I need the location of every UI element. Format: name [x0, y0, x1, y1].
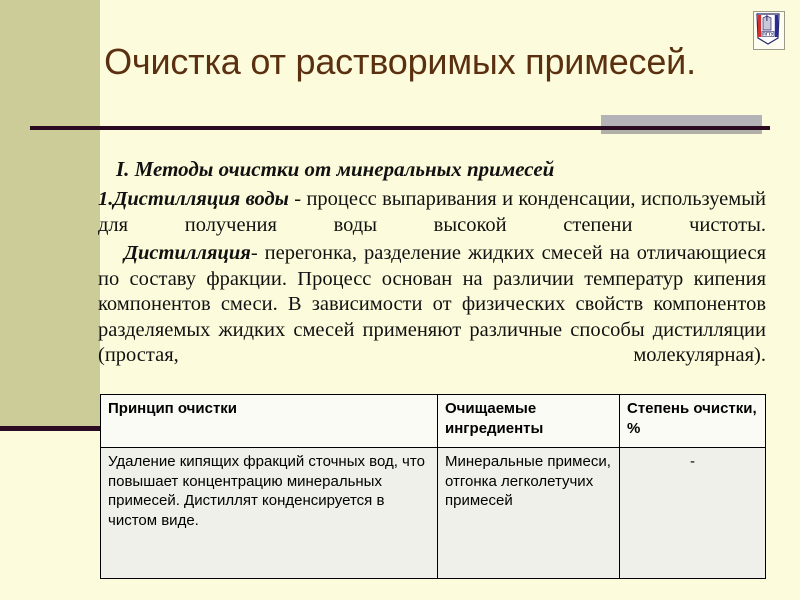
- body-text-block: I. Методы очистки от минеральных примесе…: [98, 156, 766, 369]
- section-heading: I. Методы очистки от минеральных примесе…: [116, 156, 766, 183]
- title-divider: [30, 126, 770, 130]
- paragraph-distillation-definition: Дистилляция- перегонка, разделение жидки…: [98, 241, 766, 369]
- paragraph-1-number: 1.: [98, 188, 113, 210]
- pgtu-logo-icon: ПГТУ: [753, 11, 785, 50]
- page-title: Очистка от растворимых примесей.: [60, 40, 740, 84]
- paragraph-distillation-of-water: 1.Дистилляция воды - процесс выпаривания…: [98, 187, 766, 238]
- paragraph-1-term: Дистилляция воды: [113, 188, 288, 210]
- table-header-row: Принцип очистки Очищаемые ингредиенты Ст…: [101, 395, 766, 448]
- table-header-cell-ingredients: Очищаемые ингредиенты: [438, 395, 620, 448]
- table-header-cell-degree: Степень очистки, %: [620, 395, 766, 448]
- table-cell-degree: -: [620, 448, 766, 579]
- table-header: Принцип очистки Очищаемые ингредиенты Ст…: [101, 395, 766, 448]
- paragraph-2-term: Дистилляция: [124, 242, 251, 264]
- left-accent-bar-edge: [0, 426, 104, 431]
- svg-text:ПГТУ: ПГТУ: [762, 32, 773, 37]
- table-body: Удаление кипящих фракций сточных вод, чт…: [101, 448, 766, 579]
- table-cell-principle: Удаление кипящих фракций сточных вод, чт…: [101, 448, 438, 579]
- purification-table: Принцип очистки Очищаемые ингредиенты Ст…: [100, 394, 766, 579]
- slide-canvas: Очистка от растворимых примесей. ПГТУ I.…: [0, 0, 800, 600]
- table-header-cell-principle: Принцип очистки: [101, 395, 438, 448]
- table-row: Удаление кипящих фракций сточных вод, чт…: [101, 448, 766, 579]
- table-cell-ingredients: Минеральные примеси, отгонка легколетучи…: [438, 448, 620, 579]
